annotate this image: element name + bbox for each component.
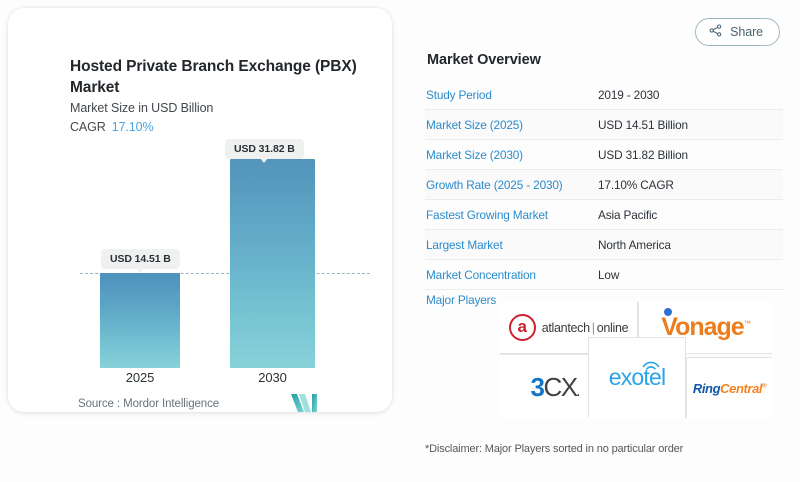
row-key: Market Concentration <box>425 268 598 282</box>
major-players-logo-grid: a atlantech|online Vonage™ 3CX. exotel R… <box>500 297 772 421</box>
table-row: Market Size (2030) USD 31.82 Billion <box>425 140 783 170</box>
atlantech-divider-icon: | <box>592 321 595 335</box>
bar-value-label-2030: USD 31.82 B <box>225 139 304 159</box>
row-key: Growth Rate (2025 - 2030) <box>425 178 598 192</box>
exotel-wifi-icon <box>641 359 661 370</box>
row-key: Largest Market <box>425 238 598 252</box>
share-button-label: Share <box>730 25 763 39</box>
market-overview-title: Market Overview <box>427 52 541 68</box>
ringcentral-wordmark: RingCentral® <box>693 382 766 395</box>
atlantech-wordmark: atlantech|online <box>542 321 629 335</box>
row-value: USD 31.82 Billion <box>598 148 688 162</box>
bar-2025[interactable] <box>100 273 180 368</box>
major-players-label: Major Players <box>426 293 496 307</box>
bar-chart-plot-area: USD 14.51 B USD 31.82 B 2025 2030 <box>70 138 370 368</box>
chart-subtitle: Market Size in USD Billion <box>70 101 213 115</box>
cagr-row: CAGR17.10% <box>70 120 154 134</box>
3cx-dot-icon: . <box>577 385 579 399</box>
share-icon <box>709 24 722 40</box>
row-key: Market Size (2025) <box>425 118 598 132</box>
share-button[interactable]: Share <box>695 18 780 46</box>
row-value: Low <box>598 268 619 282</box>
chart-card: Hosted Private Branch Exchange (PBX) Mar… <box>8 8 392 412</box>
x-axis-tick-2030: 2030 <box>230 370 315 385</box>
row-key: Market Size (2030) <box>425 148 598 162</box>
row-key: Fastest Growing Market <box>425 208 598 222</box>
row-value: 2019 - 2030 <box>598 88 659 102</box>
table-row: Market Size (2025) USD 14.51 Billion <box>425 110 783 140</box>
x-axis-tick-2025: 2025 <box>100 370 180 385</box>
3cx-digit: 3 <box>531 372 544 402</box>
row-key: Study Period <box>425 88 598 102</box>
source-text: Source : Mordor Intelligence <box>78 398 219 410</box>
atlantech-mark-icon: a <box>509 314 536 341</box>
disclaimer-text: *Disclaimer: Major Players sorted in no … <box>425 443 683 455</box>
row-value: Asia Pacific <box>598 208 657 222</box>
row-value: 17.10% CAGR <box>598 178 674 192</box>
ringcentral-word2: Central <box>720 381 762 396</box>
logo-ringcentral: RingCentral® <box>686 357 772 418</box>
bar-2030[interactable] <box>230 159 315 368</box>
trademark-icon: ™ <box>744 321 750 328</box>
table-row: Growth Rate (2025 - 2030) 17.10% CAGR <box>425 170 783 200</box>
mordor-intelligence-logo <box>291 394 317 412</box>
market-overview-table: Study Period 2019 - 2030 Market Size (20… <box>425 80 783 290</box>
trademark-icon: ® <box>762 383 766 389</box>
cagr-value: 17.10% <box>112 120 154 134</box>
row-value: USD 14.51 Billion <box>598 118 688 132</box>
cagr-label: CAGR <box>70 120 106 134</box>
chart-title: Hosted Private Branch Exchange (PBX) Mar… <box>70 56 360 98</box>
row-value: North America <box>598 238 671 252</box>
table-row: Market Concentration Low <box>425 260 783 290</box>
ringcentral-word1: Ring <box>693 381 720 396</box>
3cx-wordmark: 3CX. <box>531 374 579 400</box>
table-row: Fastest Growing Market Asia Pacific <box>425 200 783 230</box>
atlantech-word1: atlantech <box>542 321 590 335</box>
atlantech-word2: online <box>597 321 629 335</box>
3cx-letters: CX <box>544 372 577 402</box>
logo-exotel: exotel <box>588 337 686 418</box>
table-row: Study Period 2019 - 2030 <box>425 80 783 110</box>
bar-value-label-2025: USD 14.51 B <box>101 249 180 269</box>
table-row: Largest Market North America <box>425 230 783 260</box>
